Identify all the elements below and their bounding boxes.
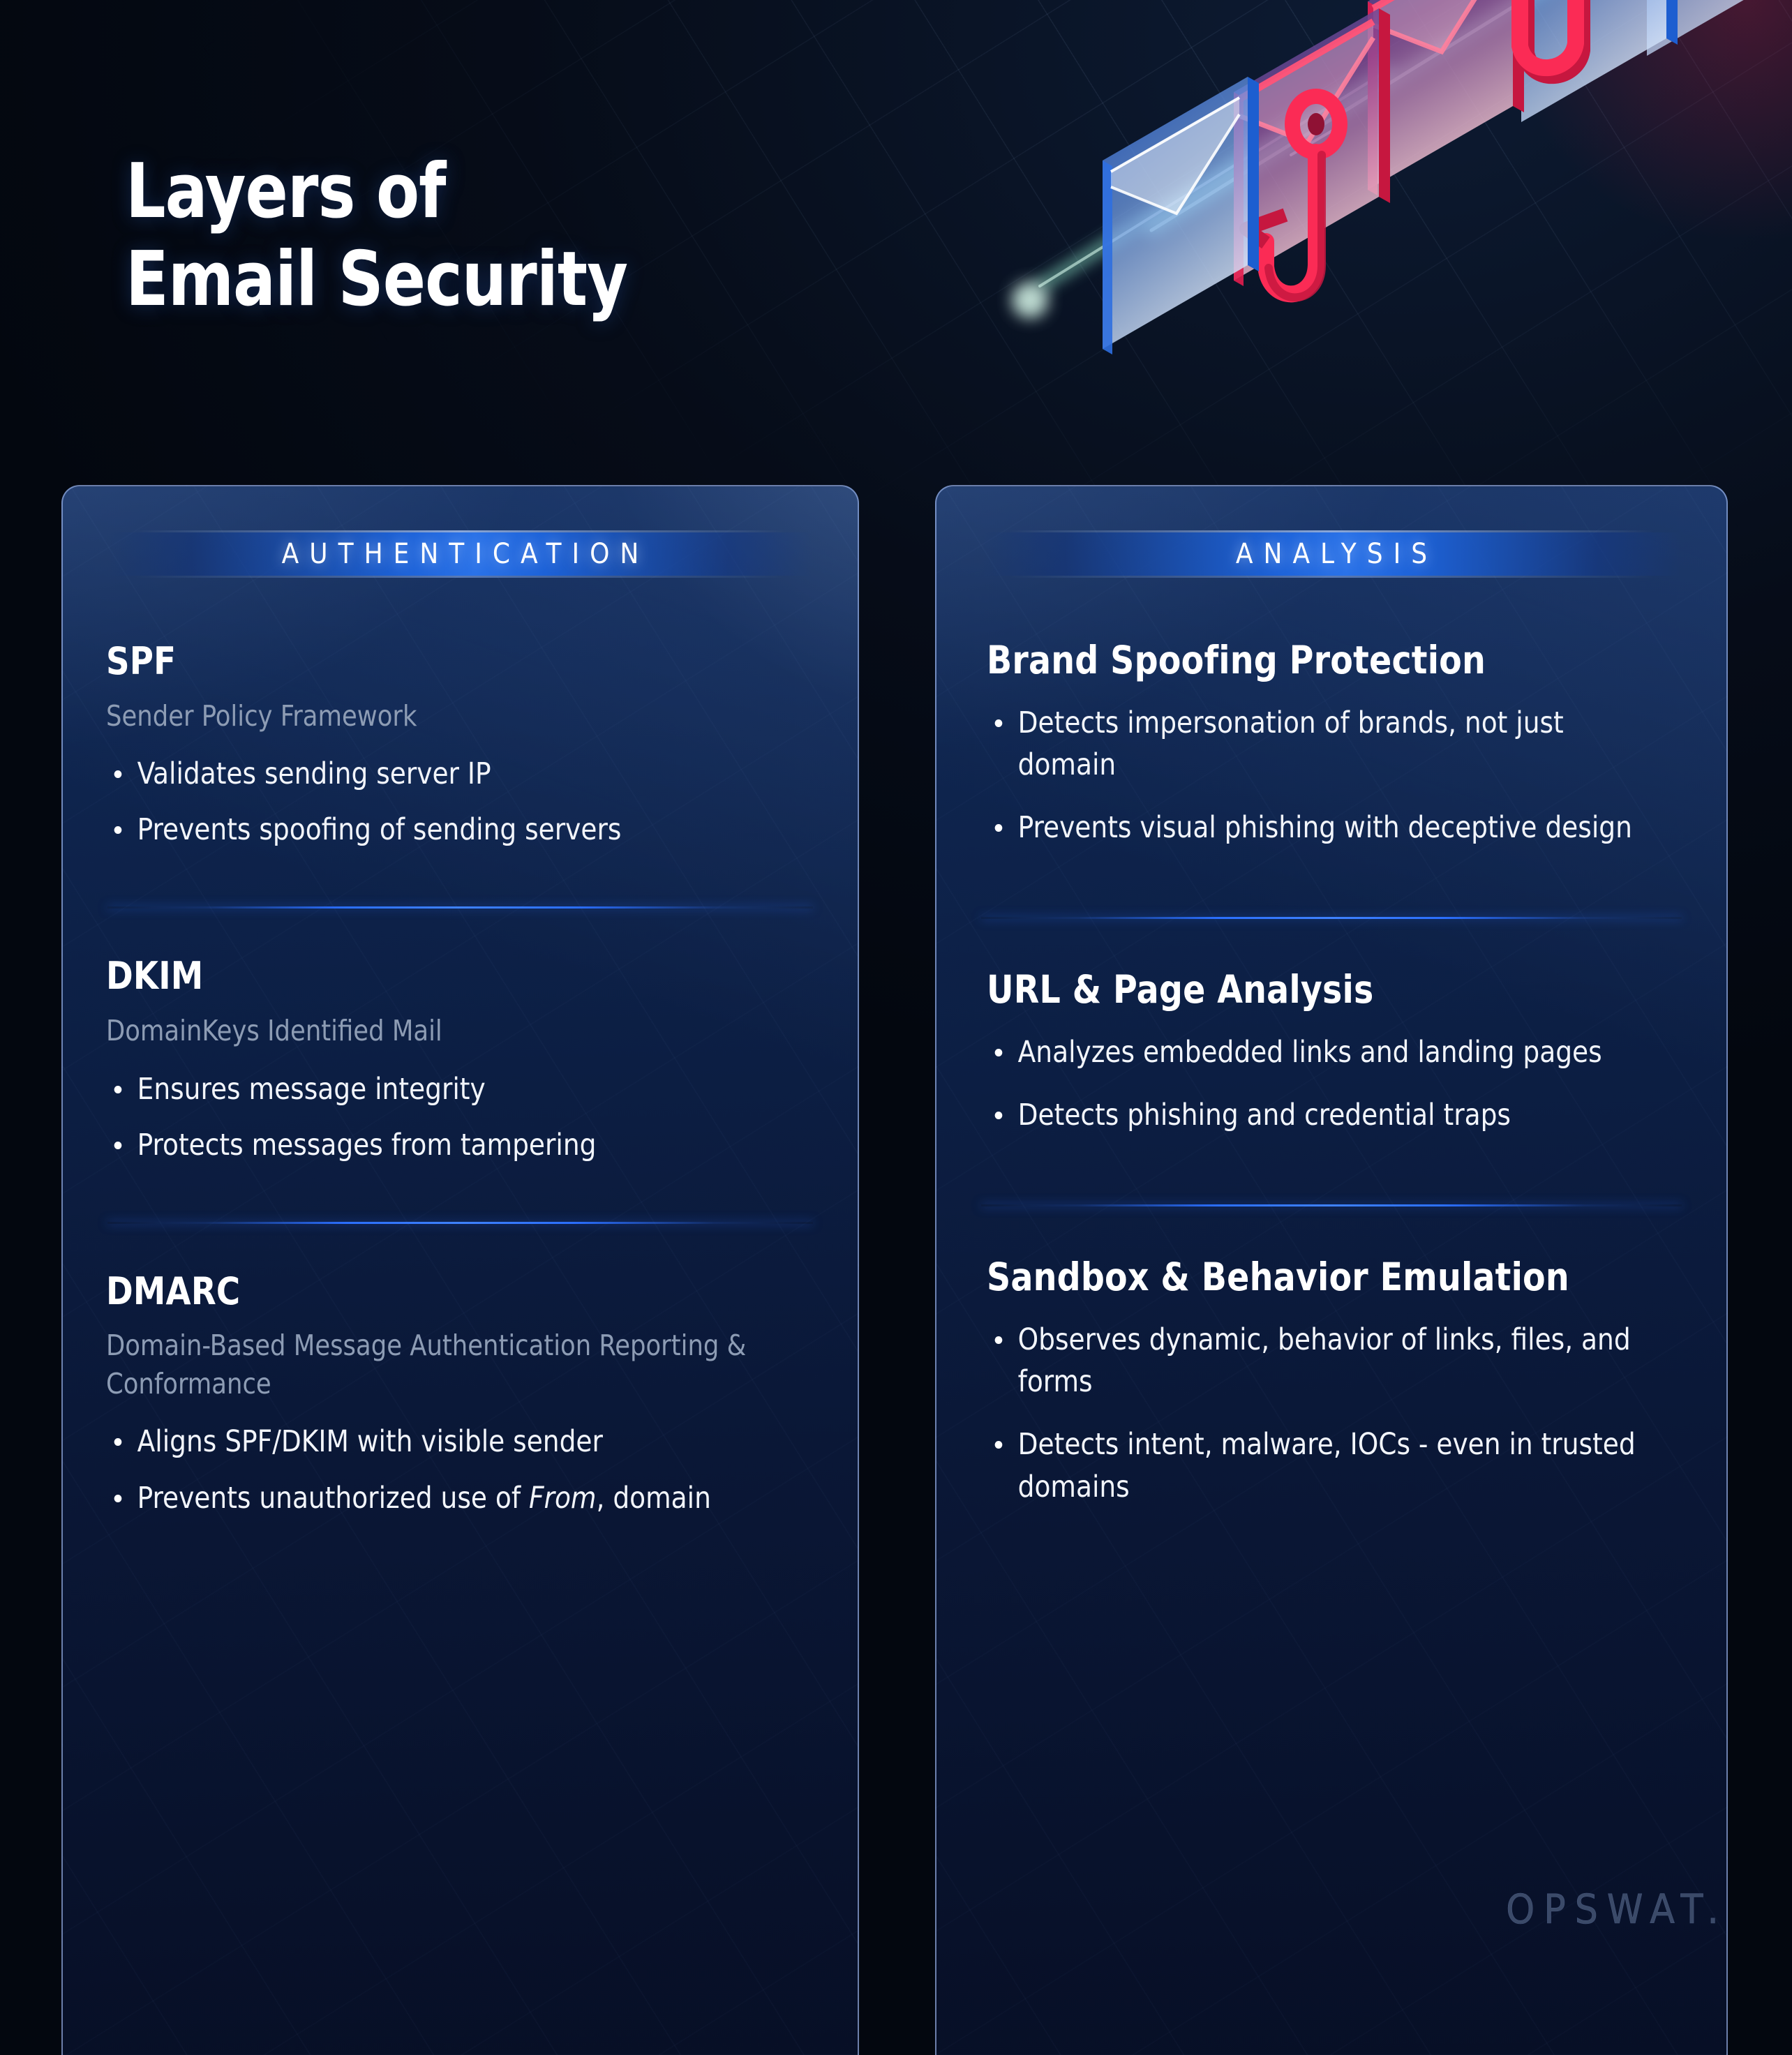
- list-item: Detects phishing and credential traps: [987, 1094, 1662, 1136]
- block-dmarc-title: DMARC: [106, 1270, 786, 1313]
- corner-red-glow: [1443, 0, 1792, 251]
- block-dmarc-bullets: Aligns SPF/DKIM with visible sender Prev…: [106, 1421, 814, 1518]
- block-url-page-analysis-title: URL & Page Analysis: [987, 968, 1655, 1012]
- list-item: Prevents unauthorized use of From, domai…: [106, 1477, 793, 1519]
- block-brand-spoofing-protection-bullets: Detects impersonation of brands, not jus…: [987, 702, 1683, 849]
- list-item: Validates sending server IP: [106, 753, 793, 795]
- bullet-italic-word: From: [529, 1481, 597, 1516]
- list-item: Detects intent, malware, IOCs - even in …: [987, 1423, 1662, 1507]
- bullet-suffix: , domain: [596, 1481, 710, 1516]
- analysis-header-label: ANALYSIS: [1225, 538, 1438, 570]
- authentication-panel: AUTHENTICATION SPF Sender Policy Framewo…: [61, 485, 859, 2055]
- analysis-header-bar-wrap: ANALYSIS: [981, 532, 1682, 576]
- block-url-page-analysis: URL & Page Analysis Analyzes embedded li…: [980, 968, 1683, 1136]
- block-brand-spoofing-protection: Brand Spoofing Protection Detects impers…: [980, 638, 1683, 849]
- opswat-logo: OPSWAT.: [1506, 1885, 1728, 1933]
- authentication-header-label: AUTHENTICATION: [271, 538, 650, 570]
- block-spf-subtitle: Sender Policy Framework: [106, 697, 786, 735]
- block-spf: SPF Sender Policy Framework Validates se…: [106, 640, 814, 851]
- list-item: Analyzes embedded links and landing page…: [987, 1031, 1662, 1073]
- block-spf-title: SPF: [106, 640, 786, 683]
- block-dkim-subtitle: DomainKeys Identified Mail: [106, 1012, 786, 1050]
- list-item: Aligns SPF/DKIM with visible sender: [106, 1421, 793, 1463]
- analysis-panel: ANALYSIS Brand Spoofing Protection Detec…: [935, 485, 1728, 2055]
- list-item: Detects impersonation of brands, not jus…: [987, 702, 1662, 786]
- block-dkim-title: DKIM: [106, 955, 786, 998]
- list-item: Observes dynamic, behavior of links, fil…: [987, 1319, 1662, 1403]
- list-item: Prevents visual phishing with deceptive …: [987, 807, 1662, 849]
- authentication-header-bar-wrap: AUTHENTICATION: [107, 532, 813, 576]
- list-item: Ensures message integrity: [106, 1068, 793, 1110]
- block-spf-bullets: Validates sending server IP Prevents spo…: [106, 753, 814, 851]
- block-brand-spoofing-protection-title: Brand Spoofing Protection: [987, 638, 1655, 682]
- email-layers-illustration: [900, 0, 1792, 468]
- bullet-prefix: Prevents unauthorized use of: [137, 1481, 529, 1516]
- block-dkim-bullets: Ensures message integrity Protects messa…: [106, 1068, 814, 1166]
- page-title-line-2: Email Security: [126, 236, 839, 324]
- page-title: Layers of Email Security: [126, 148, 839, 324]
- page-title-line-1: Layers of: [126, 148, 839, 236]
- list-item: Prevents spoofing of sending servers: [106, 809, 793, 851]
- block-url-page-analysis-bullets: Analyzes embedded links and landing page…: [987, 1031, 1683, 1136]
- block-sandbox-behavior-emulation-bullets: Observes dynamic, behavior of links, fil…: [987, 1319, 1683, 1508]
- block-dmarc: DMARC Domain-Based Message Authenticatio…: [106, 1270, 814, 1519]
- block-dmarc-subtitle: Domain-Based Message Authentication Repo…: [106, 1327, 786, 1403]
- block-dkim: DKIM DomainKeys Identified Mail Ensures …: [106, 955, 814, 1165]
- authentication-header-bar: AUTHENTICATION: [107, 532, 813, 576]
- block-sandbox-behavior-emulation-title: Sandbox & Behavior Emulation: [987, 1255, 1655, 1299]
- list-item: Protects messages from tampering: [106, 1124, 793, 1166]
- analysis-header-bar: ANALYSIS: [981, 532, 1682, 576]
- block-sandbox-behavior-emulation: Sandbox & Behavior Emulation Observes dy…: [980, 1255, 1683, 1507]
